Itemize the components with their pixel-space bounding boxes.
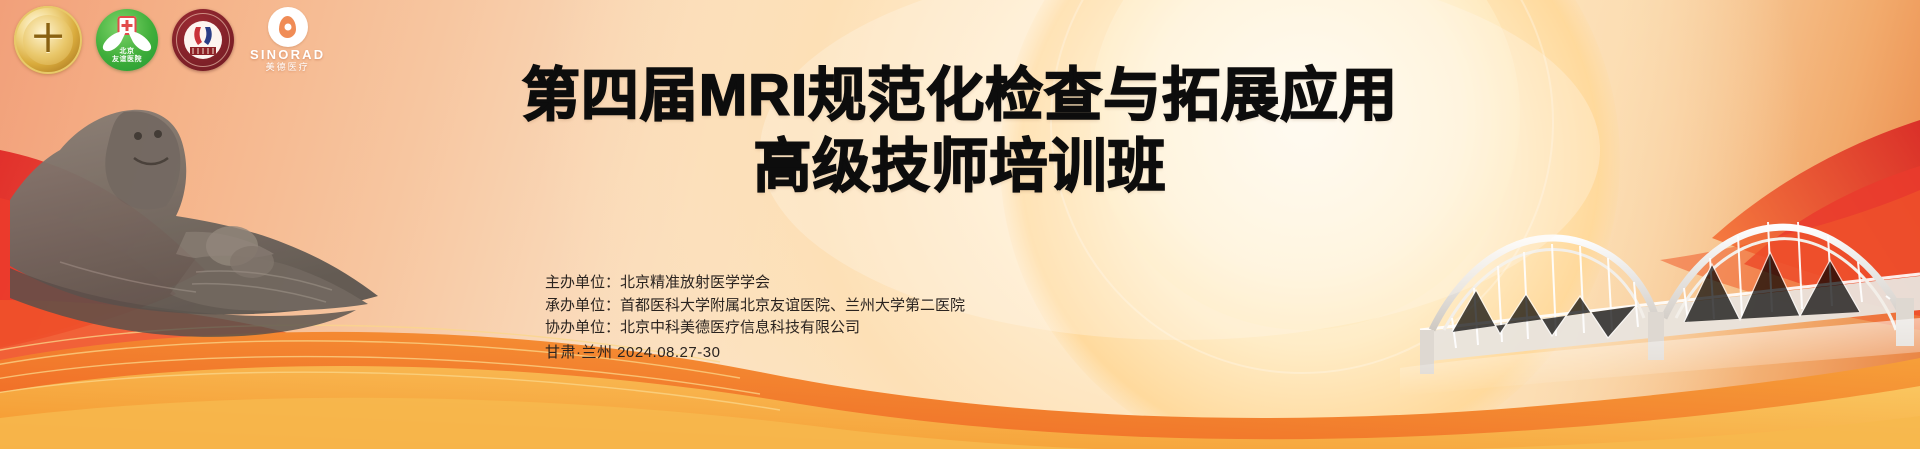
title-block: 第四届MRI规范化检查与拓展应用 高级技师培训班	[0, 64, 1920, 200]
hospital-logo-text-bottom: 友谊医院	[112, 56, 142, 63]
gold-medallion-inner: 十	[23, 15, 73, 65]
info-line-location-date: 甘肃·兰州 2024.08.27-30	[545, 342, 965, 365]
maroon-emblem-logo	[172, 9, 234, 71]
info-line-organizer: 主办单位：北京精准放射医学学会	[545, 272, 965, 295]
sinorad-eye-pupil	[279, 16, 296, 38]
gold-medallion-logo: 十	[14, 6, 82, 74]
info-line-coorganizer: 协办单位：北京中科美德医疗信息科技有限公司	[545, 317, 965, 340]
hospital-logo-text: 北京 友谊医院	[112, 48, 142, 71]
conference-banner: 十 北京 友谊医院	[0, 0, 1920, 449]
logo-row: 十 北京 友谊医院	[14, 6, 325, 74]
info-line-host: 承办单位：首都医科大学附属北京友谊医院、兰州大学第二医院	[545, 295, 965, 318]
event-info-block: 主办单位：北京精准放射医学学会 承办单位：首都医科大学附属北京友谊医院、兰州大学…	[545, 272, 965, 364]
sinorad-brand-text: SINORAD	[250, 48, 325, 61]
gold-medallion-glyph: 十	[33, 25, 63, 55]
maroon-emblem-core	[184, 21, 222, 59]
sinorad-eye-icon	[268, 7, 308, 47]
hospital-logo-text-top: 北京	[120, 48, 135, 55]
page-title-line-2: 高级技师培训班	[0, 135, 1920, 200]
sinorad-logo: SINORAD 美德医疗	[250, 7, 325, 73]
beijing-friendship-hospital-logo: 北京 友谊医院	[96, 9, 158, 71]
sinorad-brand-text-cn: 美德医疗	[266, 62, 310, 73]
emblem-glyph-icon	[184, 21, 222, 59]
